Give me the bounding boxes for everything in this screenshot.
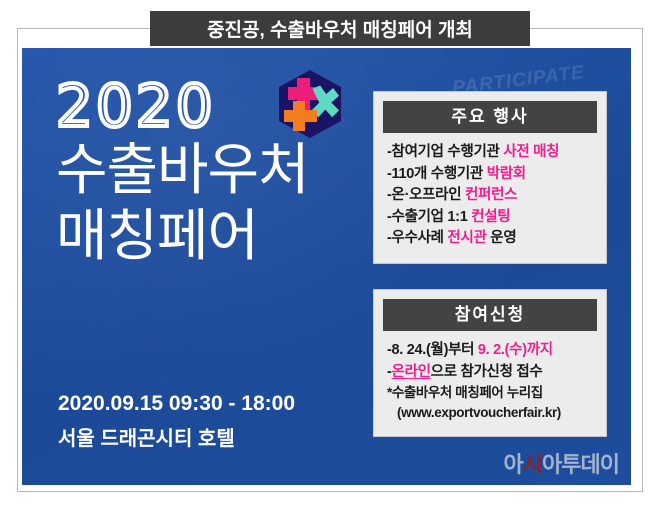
row-text-highlight-underlined: 온라인 (392, 364, 431, 380)
application-note-title: *수출바우처 매칭페어 누리집 (387, 383, 595, 403)
list-item: -참여기업 수행기관 사전 매칭 (387, 142, 595, 164)
row-text-highlight: 박람회 (487, 166, 526, 182)
event-meta-block: 2020.09.15 09:30 - 18:00 서울 드래곤시티 호텔 (58, 389, 388, 455)
list-item: -온·오프라인 컨퍼런스 (387, 185, 595, 207)
row-text-highlight: 컨설팅 (471, 209, 510, 225)
row-text-tail: 으로 참가신청 접수 (431, 364, 543, 380)
watermark-accent: 시 (523, 452, 542, 477)
article-headline-banner: 중진공, 수출바우처 매칭페어 개최 (150, 11, 530, 46)
article-headline-text: 중진공, 수출바우처 매칭페어 개최 (207, 15, 473, 42)
info-card-body-main-events: -참여기업 수행기관 사전 매칭 -110개 수행기관 박람회 -온·오프라인 … (383, 133, 597, 252)
watermark-prefix: 아 (504, 452, 523, 477)
export-voucher-logo-icon (275, 68, 345, 140)
list-item: -우수사례 전시관 운영 (387, 228, 595, 250)
poster-title-line-2: 수출바우처 (56, 138, 386, 204)
application-note-url: (www.exportvoucherfair.kr) (387, 403, 595, 423)
event-venue: 서울 드래곤시티 호텔 (58, 423, 388, 455)
poster-panel: PARTICIPATE COMPANY 2020 수출바우처 매칭페어 2020… (22, 48, 631, 485)
row-text-tail: 운영 (487, 230, 517, 246)
poster-title-line-3: 매칭페어 (56, 204, 386, 270)
press-watermark: 아시아투데이 (504, 447, 619, 479)
info-card-header-application: 참여신청 (383, 299, 597, 331)
row-text-plain: 110개 수행기관 (392, 166, 487, 182)
row-text-highlight: 전시관 (447, 230, 486, 246)
row-text-highlight: 9. 2.(수)까지 (478, 342, 553, 358)
event-datetime: 2020.09.15 09:30 - 18:00 (58, 389, 388, 419)
row-text-plain: 수출기업 1:1 (392, 209, 472, 225)
row-text-plain: 우수사례 (392, 230, 448, 246)
row-text-plain: 온·오프라인 (392, 187, 465, 203)
row-text-plain: 8. 24.(월)부터 (392, 342, 478, 358)
list-item: -수출기업 1:1 컨설팅 (387, 207, 595, 229)
row-text-highlight: 컨퍼런스 (465, 187, 517, 203)
list-item: -온라인으로 참가신청 접수 (387, 362, 595, 384)
list-item: -110개 수행기관 박람회 (387, 164, 595, 186)
info-card-header-main-events: 주요 행사 (383, 101, 597, 133)
list-item: -8. 24.(월)부터 9. 2.(수)까지 (387, 340, 595, 362)
watermark-suffix: 아투데이 (542, 452, 619, 477)
row-text-plain: 참여기업 수행기관 (392, 144, 504, 160)
info-card-application: 참여신청 -8. 24.(월)부터 9. 2.(수)까지 -온라인으로 참가신청… (374, 290, 606, 436)
row-text-highlight: 사전 매칭 (503, 144, 559, 160)
info-card-body-application: -8. 24.(월)부터 9. 2.(수)까지 -온라인으로 참가신청 접수 *… (383, 331, 597, 425)
info-card-main-events: 주요 행사 -참여기업 수행기관 사전 매칭 -110개 수행기관 박람회 -온… (374, 92, 606, 263)
